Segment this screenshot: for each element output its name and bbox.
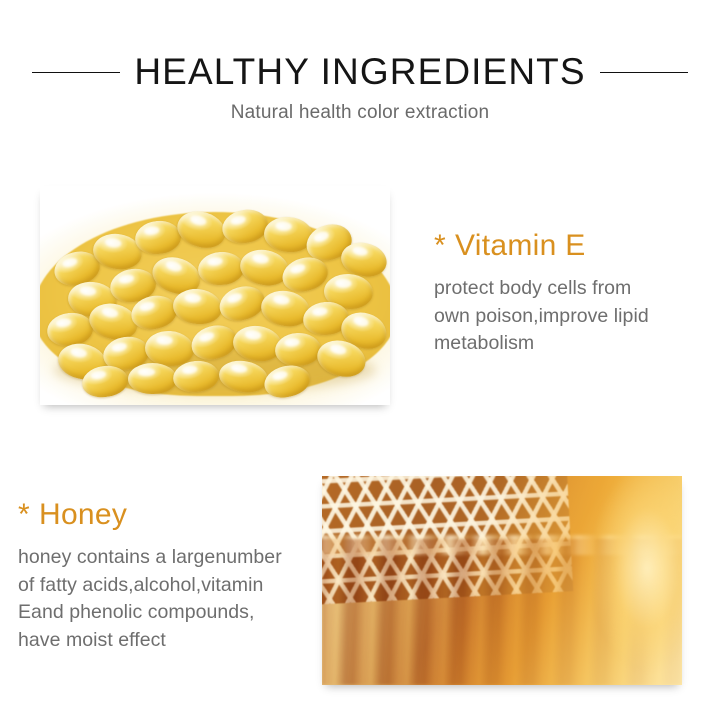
asterisk-icon: * — [18, 498, 30, 531]
honey-feature-block: *Honey honey contains a largenumber of f… — [18, 497, 318, 654]
title-rule-left — [32, 72, 120, 73]
description-line: Eand phenolic compounds, — [18, 599, 318, 627]
honey-heading: *Honey — [18, 497, 318, 533]
page-header: HEALTHY INGREDIENTS Natural health color… — [0, 0, 720, 150]
honey-honeycomb-image — [322, 476, 682, 685]
description-line: of fatty acids,alcohol,vitamin — [18, 572, 318, 600]
honey-description: honey contains a largenumber of fatty ac… — [18, 544, 318, 654]
honey-heading-text: Honey — [39, 498, 127, 531]
title-rule-right — [600, 72, 688, 73]
vitamin-e-description: protect body cells from own poison,impro… — [434, 275, 696, 358]
vitamin-e-feature-block: *Vitamin E protect body cells from own p… — [434, 228, 696, 358]
honey-sheen-highlight — [574, 476, 682, 685]
description-line: metabolism — [434, 330, 696, 358]
asterisk-icon: * — [434, 229, 446, 262]
description-line: protect body cells from — [434, 275, 696, 303]
description-line: have moist effect — [18, 627, 318, 655]
description-line: honey contains a largenumber — [18, 544, 318, 572]
page-title: HEALTHY INGREDIENTS — [134, 51, 585, 93]
description-line: own poison,improve lipid — [434, 303, 696, 331]
title-row: HEALTHY INGREDIENTS — [0, 49, 720, 95]
vitamin-e-capsules-image — [40, 186, 390, 405]
vitamin-e-heading-text: Vitamin E — [455, 229, 586, 262]
softgel-capsule — [128, 363, 177, 394]
vitamin-e-heading: *Vitamin E — [434, 228, 696, 264]
page-subtitle: Natural health color extraction — [0, 102, 720, 124]
